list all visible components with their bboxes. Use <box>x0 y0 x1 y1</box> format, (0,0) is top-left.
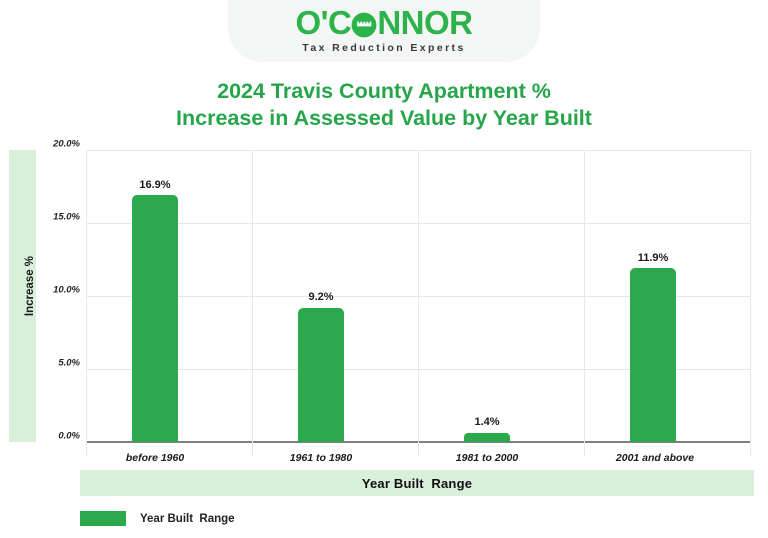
brand-tagline: Tax Reduction Experts <box>228 42 540 54</box>
x-axis-title-band: Year Built Range <box>80 470 754 496</box>
bar-before-1960[interactable] <box>132 195 178 442</box>
y-tick-3: 15.0% <box>18 212 80 223</box>
x-axis-title: Year Built Range <box>362 476 472 491</box>
chart-plot: Increase % 0.0% 5.0% 10.0% 15.0% 20.0% 1… <box>0 144 768 454</box>
chart-page: O' C NNOR Tax Reduction Experts 2024 Tra… <box>0 0 768 538</box>
category-label-2: 1981 to 2000 <box>447 452 527 464</box>
y-tick-0: 0.0% <box>18 431 80 442</box>
bar-value-1981-to-2000: 1.4% <box>444 416 530 428</box>
y-tick-1: 5.0% <box>18 358 80 369</box>
bar-value-2001-and-above: 11.9% <box>610 252 696 264</box>
y-tick-4: 20.0% <box>18 139 80 150</box>
category-label-1: 1961 to 1980 <box>281 452 361 464</box>
brand-wordmark: O' C NNOR <box>228 6 540 40</box>
bar-1981-to-2000[interactable] <box>464 433 510 442</box>
chart-legend: Year Built Range <box>80 511 235 526</box>
category-label-0: before 1960 <box>115 452 195 464</box>
y-tick-2: 10.0% <box>18 285 80 296</box>
bar-value-1961-to-1980: 9.2% <box>278 291 364 303</box>
brand-logo-letter-c: C <box>328 6 351 40</box>
brand-logo-part1: O' <box>295 6 328 40</box>
legend-swatch-year-built-range <box>80 511 126 526</box>
bar-2001-and-above[interactable] <box>630 268 676 442</box>
chart-title-line-2: Increase in Assessed Value by Year Built <box>84 105 684 132</box>
category-label-3: 2001 and above <box>608 452 702 464</box>
chart-title-line-1: 2024 Travis County Apartment % <box>84 78 684 105</box>
brand-logo: O' C NNOR Tax Reduction Experts <box>228 6 540 58</box>
bar-1961-to-1980[interactable] <box>298 308 344 442</box>
brand-logo-part2: NNOR <box>377 6 472 40</box>
y-axis-ticks: 0.0% 5.0% 10.0% 15.0% 20.0% <box>18 144 80 436</box>
building-circle-mark-icon <box>351 10 377 36</box>
bar-value-before-1960: 16.9% <box>112 179 198 191</box>
bars-container: 16.9% 9.2% 1.4% 11.9% before 1960 1961 t… <box>86 150 750 442</box>
chart-title: 2024 Travis County Apartment % Increase … <box>84 78 684 132</box>
legend-label-year-built-range: Year Built Range <box>140 513 235 525</box>
category-separator-4 <box>750 150 751 456</box>
